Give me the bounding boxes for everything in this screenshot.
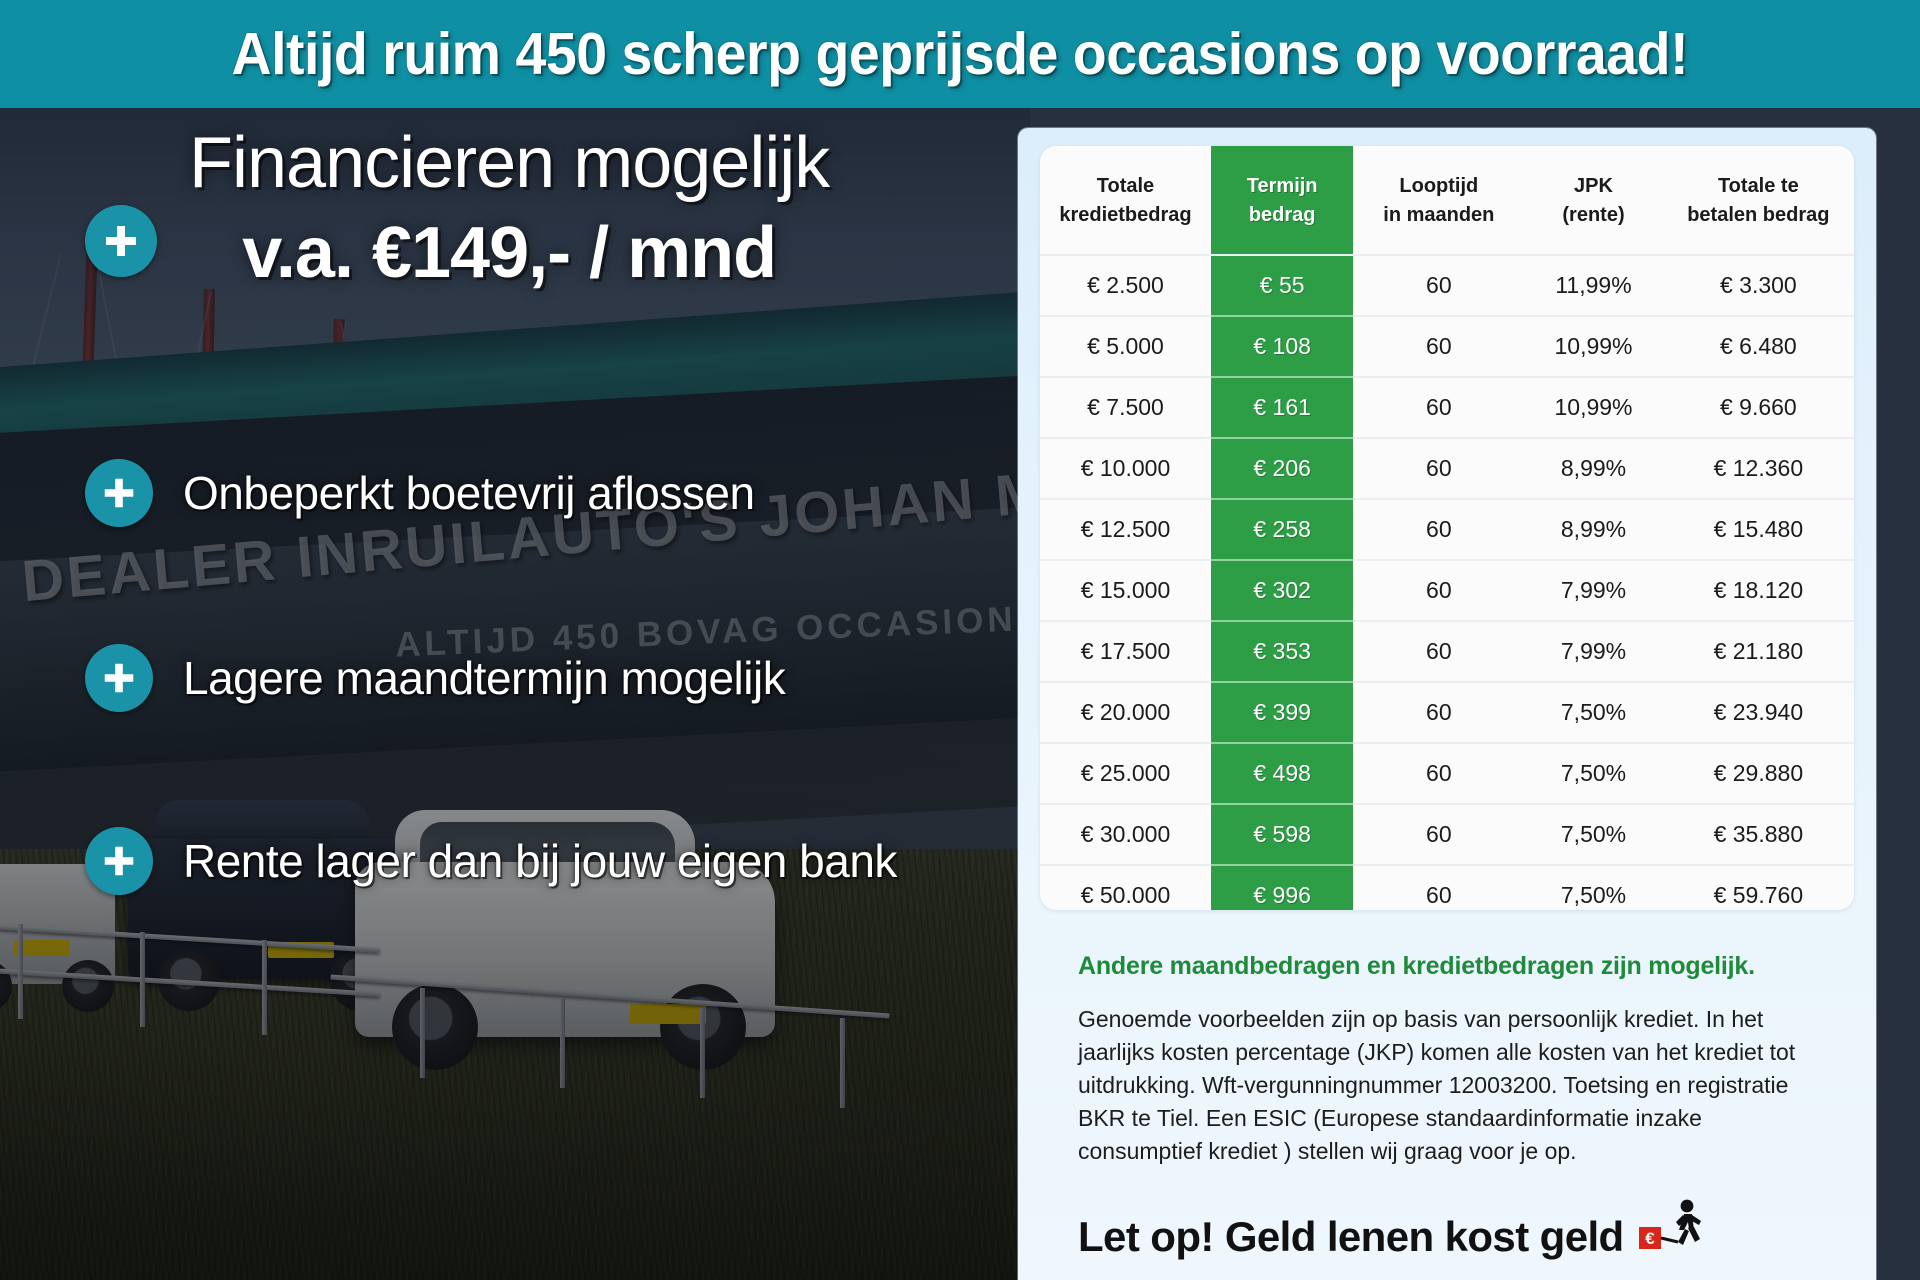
cell-total-payable: € 23.940 [1663, 682, 1854, 743]
table-row: € 30.000€ 598607,50%€ 35.880 [1040, 804, 1854, 865]
cell-total-credit: € 5.000 [1040, 316, 1211, 377]
column-header-interest: JPK (rente) [1524, 146, 1662, 255]
feature-label: Lagere maandtermijn mogelijk [183, 651, 785, 705]
cell-total-payable: € 29.880 [1663, 743, 1854, 804]
cell-total-payable: € 3.300 [1663, 255, 1854, 316]
header-line-1: Totale [1097, 175, 1154, 197]
header-line-1: Termijn [1247, 175, 1318, 197]
cell-duration: 60 [1353, 621, 1524, 682]
cell-total-payable: € 59.760 [1663, 865, 1854, 910]
column-header-total-credit: Totale kredietbedrag [1040, 146, 1211, 255]
table-body: € 2.500€ 556011,99%€ 3.300€ 5.000€ 10860… [1040, 255, 1854, 910]
cell-interest: 7,99% [1524, 560, 1662, 621]
cell-interest: 10,99% [1524, 316, 1662, 377]
cell-monthly-amount: € 302 [1211, 560, 1353, 621]
top-banner: Altijd ruim 450 scherp geprijsde occasio… [0, 0, 1920, 108]
warning-label: Let op! Geld lenen kost geld [1078, 1213, 1624, 1261]
cell-total-payable: € 35.880 [1663, 804, 1854, 865]
cell-monthly-amount: € 353 [1211, 621, 1353, 682]
cell-total-payable: € 18.120 [1663, 560, 1854, 621]
table-header-row: Totale kredietbedrag Termijn bedrag Loop… [1040, 146, 1854, 255]
cell-interest: 7,50% [1524, 682, 1662, 743]
header-line-2: (rente) [1562, 204, 1624, 226]
cell-interest: 11,99% [1524, 255, 1662, 316]
cell-total-credit: € 15.000 [1040, 560, 1211, 621]
table-header: Totale kredietbedrag Termijn bedrag Loop… [1040, 146, 1854, 255]
plus-icon [85, 827, 153, 895]
feature-label: Onbeperkt boetevrij aflossen [183, 466, 755, 520]
column-header-total-payable: Totale te betalen bedrag [1663, 146, 1854, 255]
table-row: € 20.000€ 399607,50%€ 23.940 [1040, 682, 1854, 743]
legal-disclaimer: Andere maandbedragen en kredietbedragen … [1078, 952, 1818, 1167]
cell-total-credit: € 50.000 [1040, 865, 1211, 910]
header-line-1: JPK [1574, 175, 1613, 197]
financing-table-card: Totale kredietbedrag Termijn bedrag Loop… [1040, 146, 1854, 910]
cell-total-credit: € 30.000 [1040, 804, 1211, 865]
headline-primary: Financieren mogelijk [189, 122, 829, 204]
cell-duration: 60 [1353, 865, 1524, 910]
column-header-monthly-amount: Termijn bedrag [1211, 146, 1353, 255]
credit-warning: Let op! Geld lenen kost geld € [1078, 1198, 1838, 1261]
feature-item-3: Rente lager dan bij jouw eigen bank [85, 827, 897, 895]
svg-text:€: € [1645, 1229, 1655, 1248]
headline-block: Financieren mogelijk v.a. €149,- / mnd [85, 122, 829, 294]
cell-duration: 60 [1353, 499, 1524, 560]
table-row: € 17.500€ 353607,99%€ 21.180 [1040, 621, 1854, 682]
cell-monthly-amount: € 55 [1211, 255, 1353, 316]
table-row: € 50.000€ 996607,50%€ 59.760 [1040, 865, 1854, 910]
plus-icon [85, 644, 153, 712]
cell-total-payable: € 6.480 [1663, 316, 1854, 377]
feature-item-1: Onbeperkt boetevrij aflossen [85, 459, 755, 527]
cell-duration: 60 [1353, 377, 1524, 438]
cell-total-credit: € 12.500 [1040, 499, 1211, 560]
header-line-2: betalen bedrag [1687, 204, 1829, 226]
table-row: € 25.000€ 498607,50%€ 29.880 [1040, 743, 1854, 804]
cell-total-payable: € 21.180 [1663, 621, 1854, 682]
cell-monthly-amount: € 598 [1211, 804, 1353, 865]
cell-interest: 7,99% [1524, 621, 1662, 682]
cell-duration: 60 [1353, 316, 1524, 377]
legal-body-text: Genoemde voorbeelden zijn op basis van p… [1078, 1003, 1818, 1167]
feature-item-2: Lagere maandtermijn mogelijk [85, 644, 785, 712]
cell-total-payable: € 15.480 [1663, 499, 1854, 560]
cell-monthly-amount: € 498 [1211, 743, 1353, 804]
cell-monthly-amount: € 161 [1211, 377, 1353, 438]
header-line-1: Looptijd [1399, 175, 1478, 197]
table-row: € 12.500€ 258608,99%€ 15.480 [1040, 499, 1854, 560]
cell-monthly-amount: € 108 [1211, 316, 1353, 377]
plus-icon [85, 459, 153, 527]
table-row: € 10.000€ 206608,99%€ 12.360 [1040, 438, 1854, 499]
cell-interest: 10,99% [1524, 377, 1662, 438]
cell-monthly-amount: € 258 [1211, 499, 1353, 560]
header-line-2: bedrag [1249, 204, 1316, 226]
cell-duration: 60 [1353, 255, 1524, 316]
banner-headline: Altijd ruim 450 scherp geprijsde occasio… [232, 20, 1689, 88]
headline-lines: Financieren mogelijk v.a. €149,- / mnd [189, 122, 829, 294]
cell-total-credit: € 20.000 [1040, 682, 1211, 743]
header-line-2: kredietbedrag [1059, 204, 1191, 226]
financing-table: Totale kredietbedrag Termijn bedrag Loop… [1040, 146, 1854, 910]
cell-duration: 60 [1353, 438, 1524, 499]
cell-total-credit: € 17.500 [1040, 621, 1211, 682]
advertisement-canvas: DEALER INRUILAUTO'S JOHAN MEURE ALTIJD 4… [0, 0, 1920, 1280]
promo-content: Financieren mogelijk v.a. €149,- / mnd O… [0, 104, 1030, 1280]
cell-duration: 60 [1353, 682, 1524, 743]
cell-monthly-amount: € 996 [1211, 865, 1353, 910]
feature-label: Rente lager dan bij jouw eigen bank [183, 834, 897, 888]
cell-duration: 60 [1353, 804, 1524, 865]
cell-duration: 60 [1353, 560, 1524, 621]
table-row: € 5.000€ 1086010,99%€ 6.480 [1040, 316, 1854, 377]
cell-interest: 7,50% [1524, 865, 1662, 910]
legal-title: Andere maandbedragen en kredietbedragen … [1078, 952, 1818, 981]
cell-monthly-amount: € 399 [1211, 682, 1353, 743]
plus-icon [85, 205, 157, 277]
cell-duration: 60 [1353, 743, 1524, 804]
table-row: € 2.500€ 556011,99%€ 3.300 [1040, 255, 1854, 316]
table-row: € 7.500€ 1616010,99%€ 9.660 [1040, 377, 1854, 438]
cell-interest: 8,99% [1524, 499, 1662, 560]
walking-man-dragging-euro-block-icon: € [1638, 1198, 1704, 1259]
financing-panel: Totale kredietbedrag Termijn bedrag Loop… [1018, 128, 1876, 1280]
cell-total-credit: € 10.000 [1040, 438, 1211, 499]
cell-interest: 8,99% [1524, 438, 1662, 499]
cell-total-payable: € 12.360 [1663, 438, 1854, 499]
header-line-2: in maanden [1383, 204, 1494, 226]
cell-monthly-amount: € 206 [1211, 438, 1353, 499]
column-header-duration: Looptijd in maanden [1353, 146, 1524, 255]
header-line-1: Totale te [1718, 175, 1799, 197]
cell-total-credit: € 2.500 [1040, 255, 1211, 316]
table-row: € 15.000€ 302607,99%€ 18.120 [1040, 560, 1854, 621]
cell-total-credit: € 25.000 [1040, 743, 1211, 804]
cell-interest: 7,50% [1524, 743, 1662, 804]
headline-price: v.a. €149,- / mnd [189, 212, 829, 294]
cell-total-credit: € 7.500 [1040, 377, 1211, 438]
cell-total-payable: € 9.660 [1663, 377, 1854, 438]
cell-interest: 7,50% [1524, 804, 1662, 865]
